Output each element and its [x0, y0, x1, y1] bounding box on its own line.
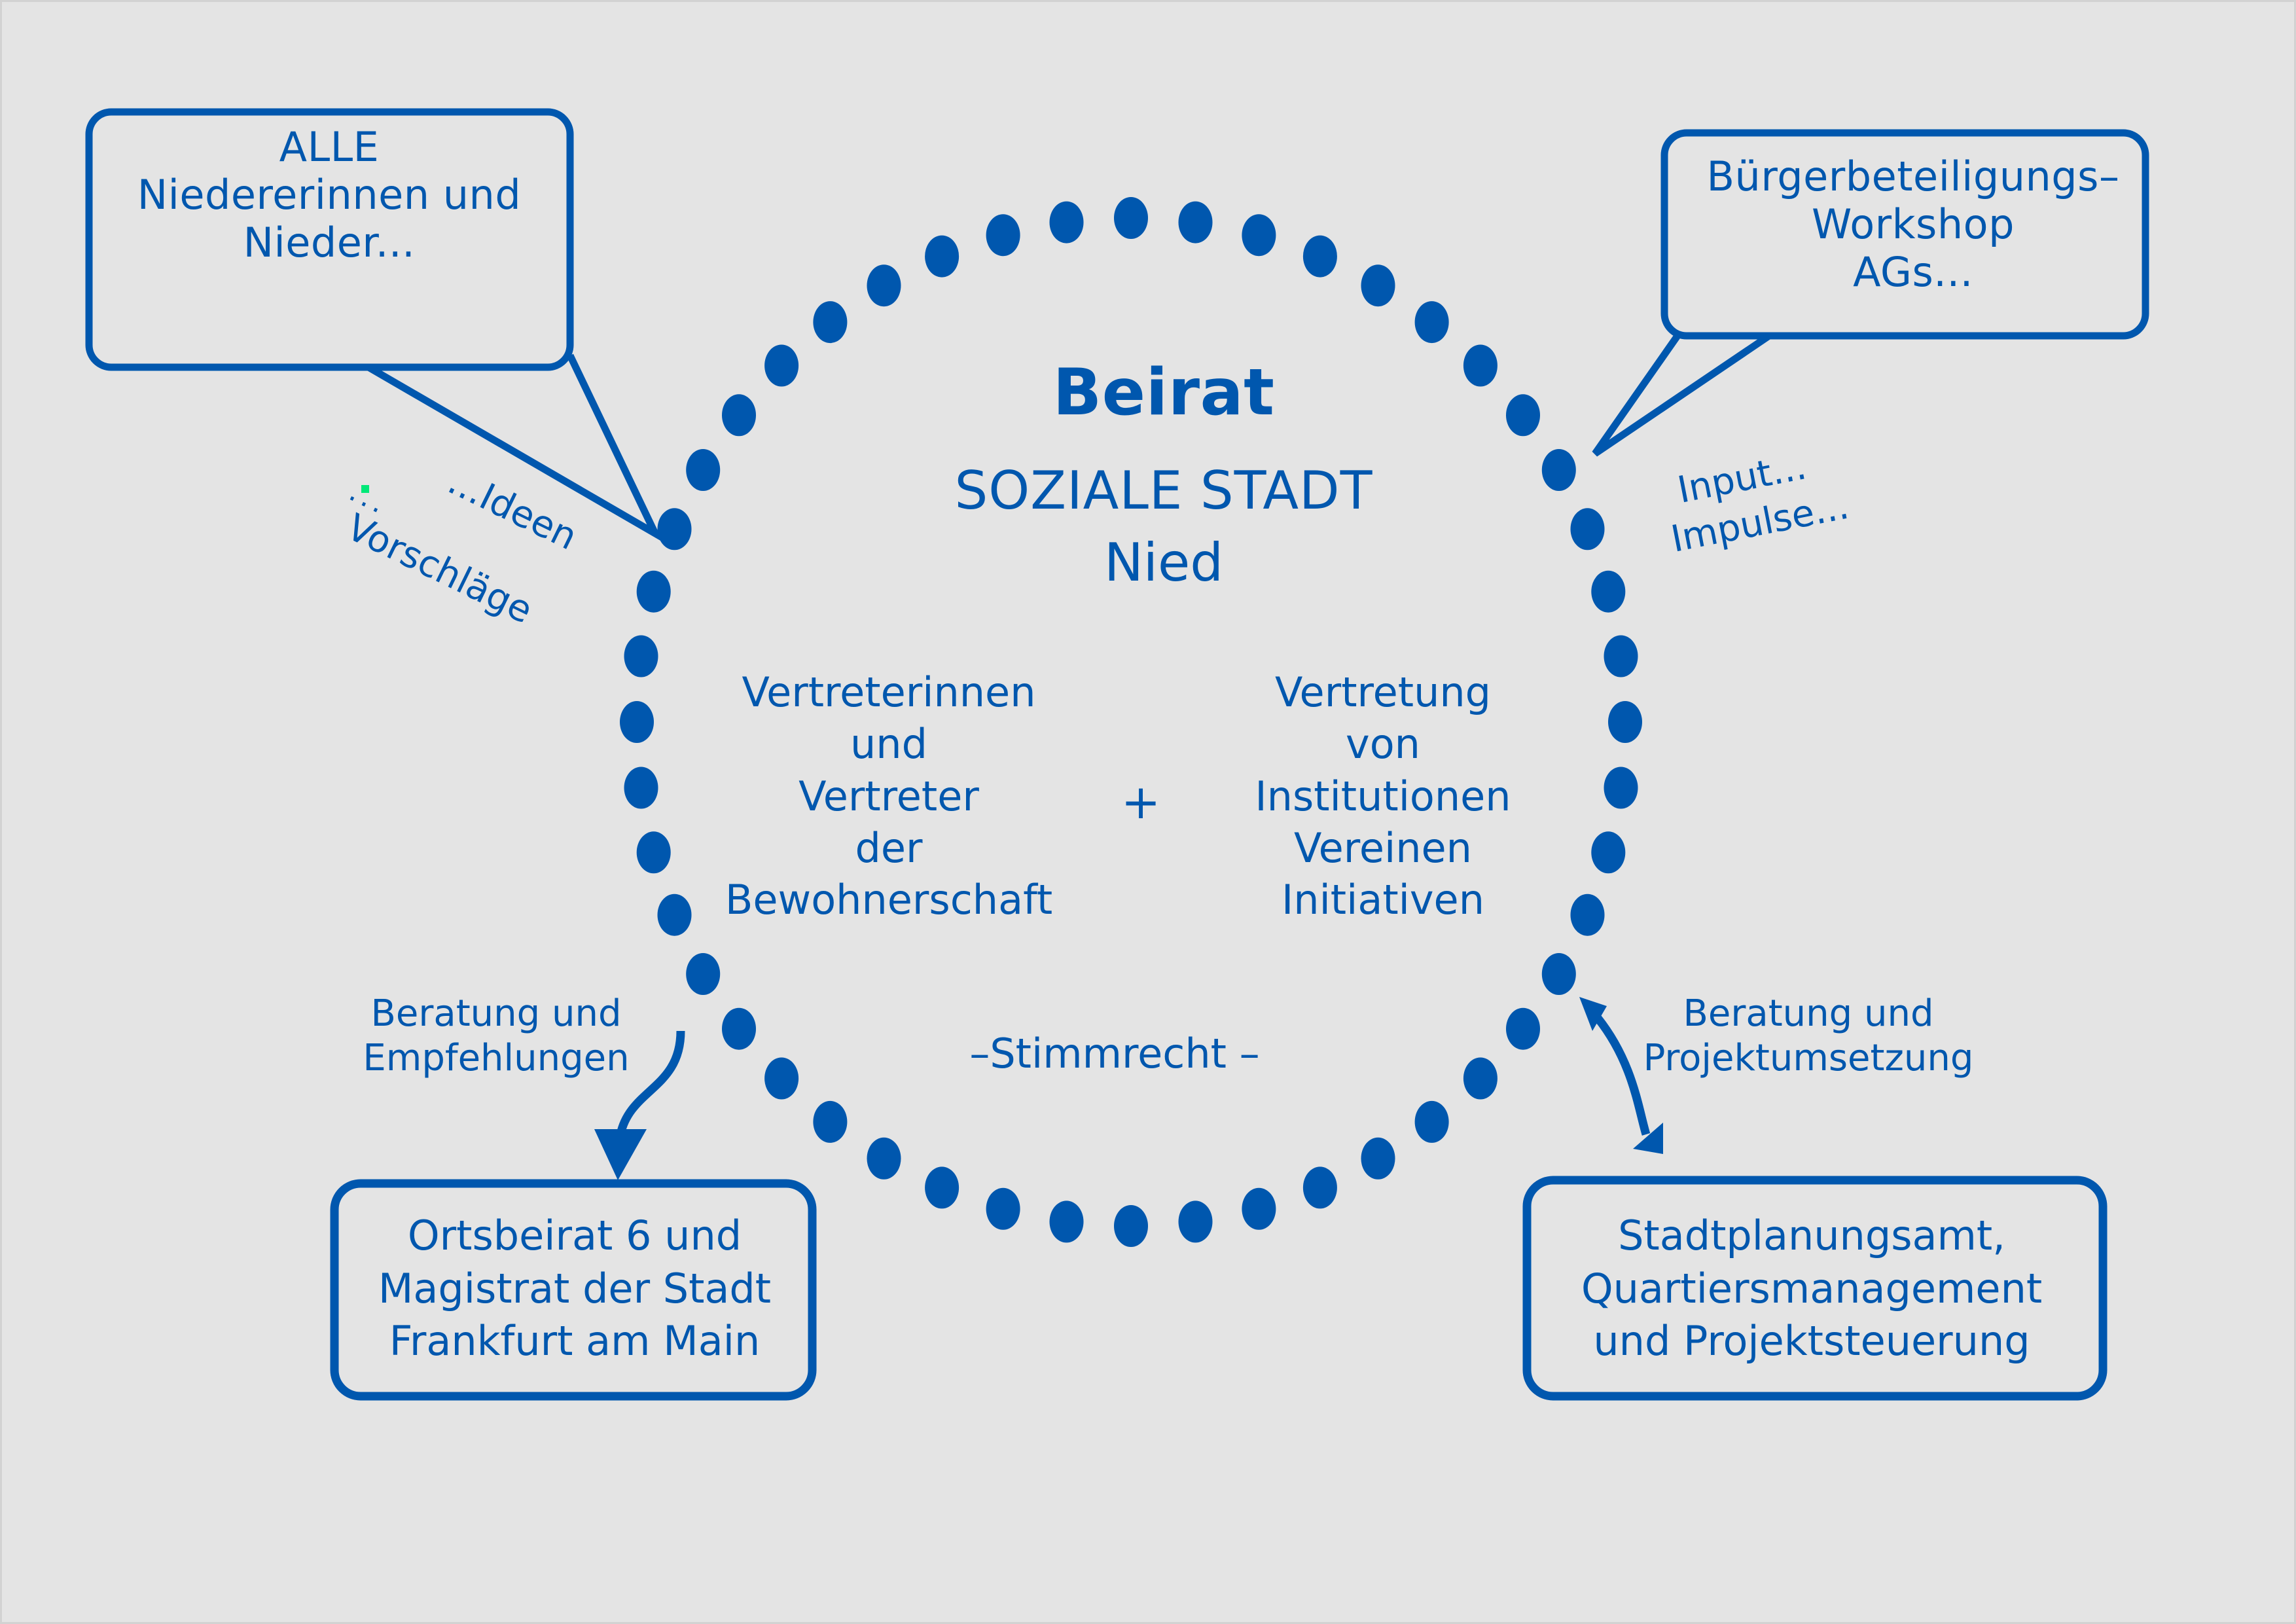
center-subtitle-line2: Nied: [755, 532, 1573, 594]
circle-dot: [1415, 301, 1449, 343]
circle-dot: [1361, 1138, 1395, 1180]
circle-dot: [1463, 1058, 1498, 1100]
speech-bubble-top-right-label: Bürgerbeteiligungs– Workshop AGs...: [1677, 153, 2149, 296]
circle-dot: [1591, 571, 1625, 613]
caption-beratung-projektumsetzung: Beratung und Projektumsetzung: [1638, 992, 1979, 1081]
circle-dot: [637, 831, 671, 873]
arrowhead-down-left: [594, 1129, 647, 1180]
circle-dot: [722, 1008, 756, 1050]
diagram-canvas: ALLE Niedererinnen und Nieder... Bürgerb…: [0, 0, 2296, 1624]
circle-dot: [813, 1101, 847, 1143]
circle-dot: [1050, 202, 1084, 244]
circle-dot: [1242, 1188, 1276, 1230]
membership-column-right: Vertretung von Institutionen Vereinen In…: [1187, 666, 1579, 926]
circle-dot: [1591, 831, 1625, 873]
circle-dot: [925, 1166, 959, 1208]
stimmrecht-note: –Stimmrecht –: [886, 1030, 1344, 1077]
circle-dot: [1303, 1166, 1337, 1208]
circle-dot: [620, 701, 654, 743]
circle-dot: [686, 449, 720, 491]
circle-dot: [1608, 701, 1642, 743]
circle-dot: [624, 636, 658, 677]
circle-dot: [1415, 1101, 1449, 1143]
green-speck-artifact: [361, 485, 369, 493]
circle-dot: [1361, 264, 1395, 306]
circle-dot: [1050, 1200, 1084, 1242]
circle-dot: [813, 301, 847, 343]
circle-dot: [867, 264, 901, 306]
circle-dot: [1506, 1008, 1540, 1050]
plus-symbol: +: [1088, 774, 1193, 830]
page-title: Beirat: [755, 355, 1573, 431]
circle-dot: [624, 767, 658, 809]
circle-dot: [722, 394, 756, 436]
circle-dot: [686, 953, 720, 995]
speech-bubble-top-right-tail: [1595, 336, 1769, 454]
circle-dot: [867, 1138, 901, 1180]
box-ortsbeirat-magistrat-label: Ortsbeirat 6 und Magistrat der Stadt Fra…: [349, 1210, 800, 1368]
circle-dot: [1179, 1200, 1213, 1242]
center-subtitle-line1: SOZIALE STADT: [755, 460, 1573, 522]
circle-dot: [1604, 636, 1638, 677]
circle-dot: [986, 214, 1020, 256]
caption-beratung-empfehlungen: Beratung und Empfehlungen: [342, 992, 650, 1081]
circle-dot: [637, 571, 671, 613]
circle-dot: [1114, 1205, 1148, 1247]
circle-dot: [658, 508, 692, 550]
circle-dot: [1242, 214, 1276, 256]
circle-dot: [1179, 202, 1213, 244]
box-stadtplanungsamt-label: Stadtplanungsamt, Quartiersmanagement un…: [1540, 1210, 2083, 1368]
circle-dot: [1114, 197, 1148, 239]
circle-dot: [1303, 236, 1337, 278]
speech-bubble-top-left-label: ALLE Niedererinnen und Nieder...: [100, 123, 558, 266]
circle-dot: [925, 236, 959, 278]
membership-column-left: Vertreterinnen und Vertreter der Bewohne…: [683, 666, 1095, 926]
circle-dot: [764, 1058, 798, 1100]
circle-dot: [986, 1188, 1020, 1230]
circle-dot: [1604, 767, 1638, 809]
circle-dot: [1542, 953, 1576, 995]
circle-dot: [1571, 508, 1605, 550]
